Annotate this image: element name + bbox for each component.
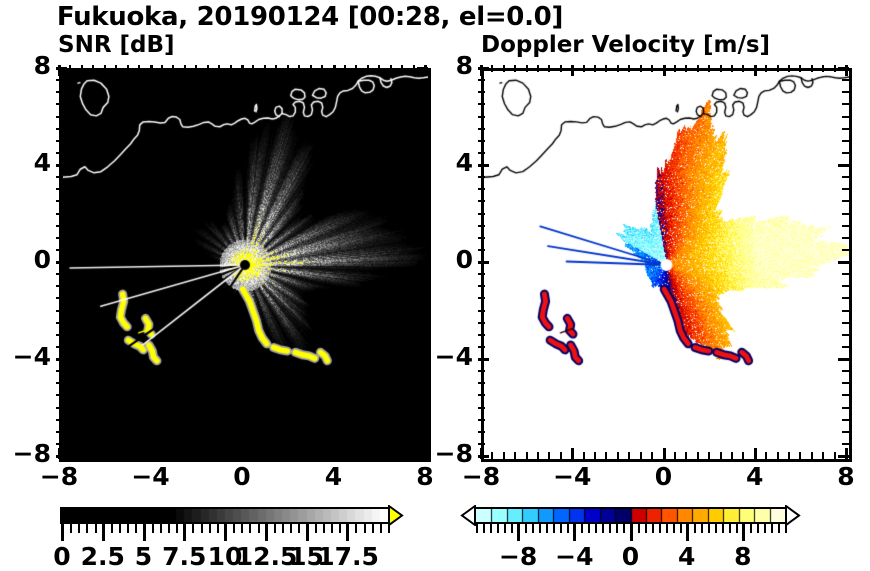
colorbar-arrow: [388, 505, 404, 526]
velocity-colorbar[interactable]: [474, 507, 787, 524]
x-tick-label: 8: [824, 462, 868, 491]
y-tick-label: −4: [7, 342, 51, 371]
doppler-plot-panel[interactable]: [481, 68, 852, 462]
colorbar-tick-label: −8: [488, 542, 548, 571]
x-tick-label: 0: [220, 462, 264, 491]
y-tick-label: 4: [7, 148, 51, 177]
y-tick-label: 0: [429, 245, 473, 274]
doppler-radar-image: [484, 71, 849, 459]
colorbar-tick-label: 17.5: [317, 542, 377, 571]
colorbar-tick-label: 4: [657, 542, 717, 571]
y-tick-label: 8: [429, 51, 473, 80]
colorbar-tick-label: 8: [713, 542, 773, 571]
y-tick-label: 4: [429, 148, 473, 177]
x-tick-label: 0: [642, 462, 686, 491]
y-tick-label: 8: [7, 51, 51, 80]
velocity-colorbar-gradient: [476, 509, 785, 524]
panel-subtitle-snr: SNR [dB]: [58, 32, 175, 58]
page-title: Fukuoka, 20190124 [00:28, el=0.0]: [0, 2, 620, 32]
panel-subtitle-doppler: Doppler Velocity [m/s]: [481, 32, 770, 58]
x-tick-label: 4: [312, 462, 356, 491]
x-tick-label: 4: [733, 462, 777, 491]
y-tick-label: −4: [429, 342, 473, 371]
colorbar-arrow: [785, 505, 801, 526]
y-tick-label: −8: [7, 439, 51, 468]
snr-colorbar-gradient: [62, 509, 388, 524]
colorbar-tick-label: 0: [601, 542, 661, 571]
snr-radar-image: [62, 71, 428, 459]
y-tick-label: −8: [429, 439, 473, 468]
snr-colorbar[interactable]: [60, 507, 390, 524]
colorbar-arrow: [460, 505, 476, 526]
colorbar-tick-label: −4: [544, 542, 604, 571]
x-tick-label: −4: [129, 462, 173, 491]
x-tick-label: −4: [550, 462, 594, 491]
snr-plot-panel[interactable]: [59, 68, 431, 462]
y-tick-label: 0: [7, 245, 51, 274]
